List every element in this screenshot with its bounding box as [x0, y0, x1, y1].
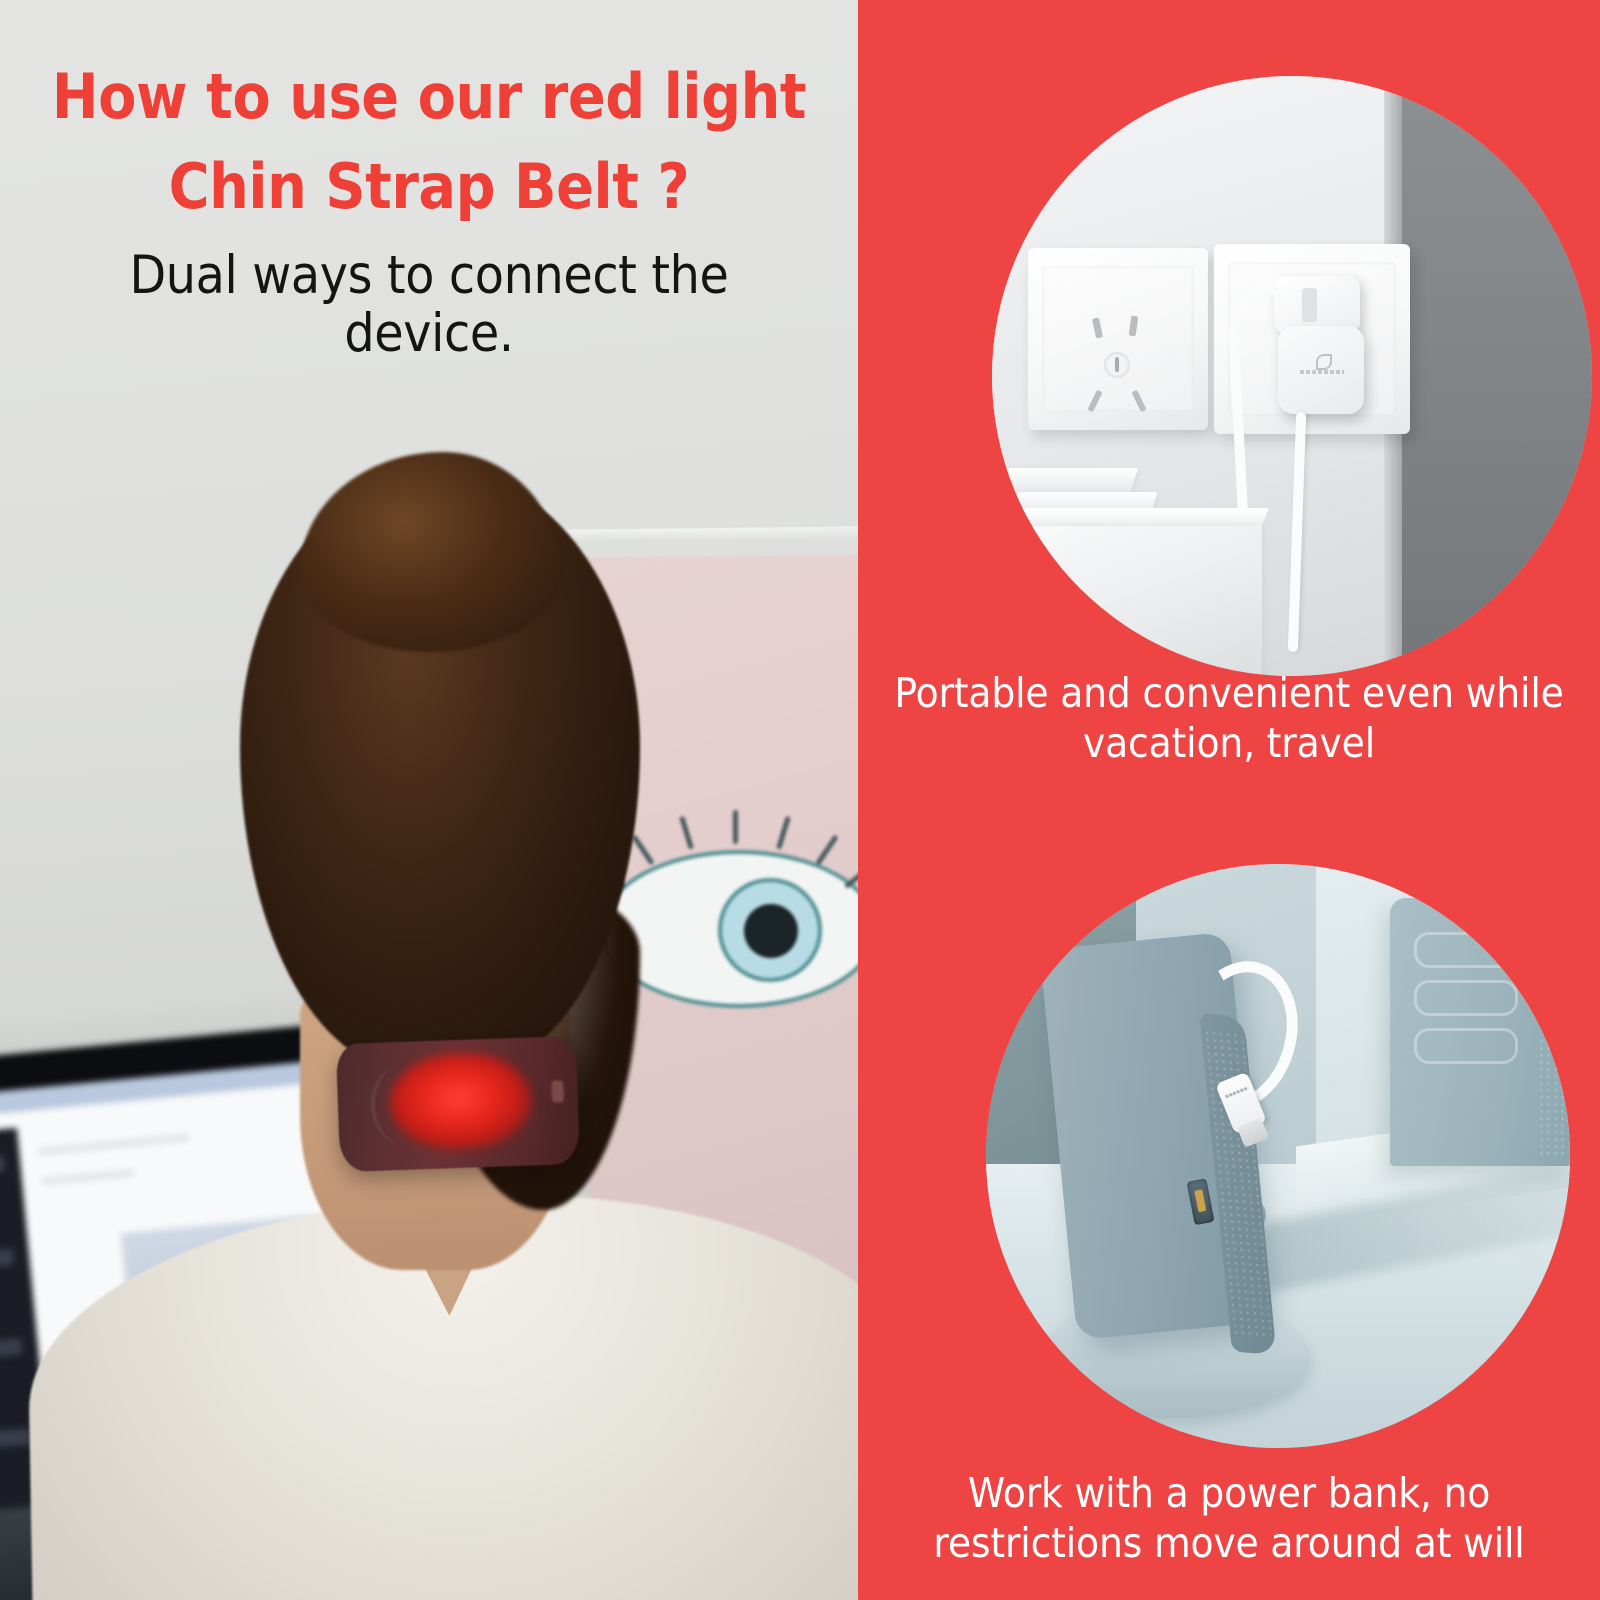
headline-line-2: Chin Strap Belt ?: [43, 144, 815, 230]
outlet-photo-circle: [992, 76, 1592, 676]
socket-pin-round: [1104, 352, 1130, 378]
eye-lash: [733, 810, 738, 844]
right-feature-panel: Portable and convenient even while vacat…: [858, 0, 1600, 1600]
powerbank-caption-text: Work with a power bank, no restrictions …: [933, 1469, 1524, 1567]
headline-line-1: How to use our red light: [43, 54, 815, 140]
subheadline: Dual ways to connect the device.: [43, 247, 815, 364]
ribbed-block-texture: [1538, 1038, 1566, 1158]
ribbed-block-slot: [1414, 932, 1518, 968]
socket-pin-angled-right: [1131, 390, 1146, 412]
outlet-caption: Portable and convenient even while vacat…: [888, 668, 1571, 768]
headline-block: How to use our red light Chin Strap Belt…: [0, 54, 858, 364]
monitor-content-row: [39, 1133, 189, 1155]
socket-pin-flat-right: [1129, 316, 1139, 337]
eye-lash: [632, 835, 655, 866]
eye-lash: [844, 864, 858, 889]
monitor-sidebar-item: [0, 1249, 14, 1269]
product-infographic: How to use our red light Chin Strap Belt…: [0, 0, 1600, 1600]
eye-lash: [776, 816, 791, 850]
eye-pupil-shape: [744, 904, 798, 958]
monitor-sidebar-item: [0, 1155, 5, 1175]
power-bank-usb-port: [1187, 1178, 1215, 1225]
powerbank-caption: Work with a power bank, no restrictions …: [888, 1468, 1571, 1568]
ribbed-block-slot: [1414, 980, 1518, 1016]
outlet-wall-right: [1402, 76, 1592, 676]
connector-brand-text: [1225, 1086, 1248, 1098]
socket-face: [1042, 266, 1194, 412]
monitor-content-row: [42, 1169, 134, 1186]
socket-pin-angled-left: [1087, 390, 1102, 412]
red-light-neck-device: [336, 1036, 580, 1172]
nightstand: [992, 526, 1262, 676]
device-button: [551, 1080, 564, 1102]
left-lifestyle-panel: How to use our red light Chin Strap Belt…: [0, 0, 858, 1600]
ribbed-block-prop: [1390, 898, 1570, 1166]
monitor-sidebar-item: [0, 1428, 31, 1448]
powerbank-photo-circle: [986, 864, 1570, 1448]
eye-lash: [679, 816, 694, 850]
monitor-sidebar-item: [0, 1338, 23, 1358]
wall-socket-plate-left: [1028, 248, 1208, 430]
eye-illustration: [600, 780, 858, 1080]
eye-lash: [815, 835, 838, 866]
book-top: [998, 468, 1138, 494]
ribbed-block-slot: [1414, 1028, 1518, 1064]
outlet-caption-text: Portable and convenient even while vacat…: [894, 669, 1563, 767]
socket-pin-flat-left: [1092, 317, 1103, 338]
